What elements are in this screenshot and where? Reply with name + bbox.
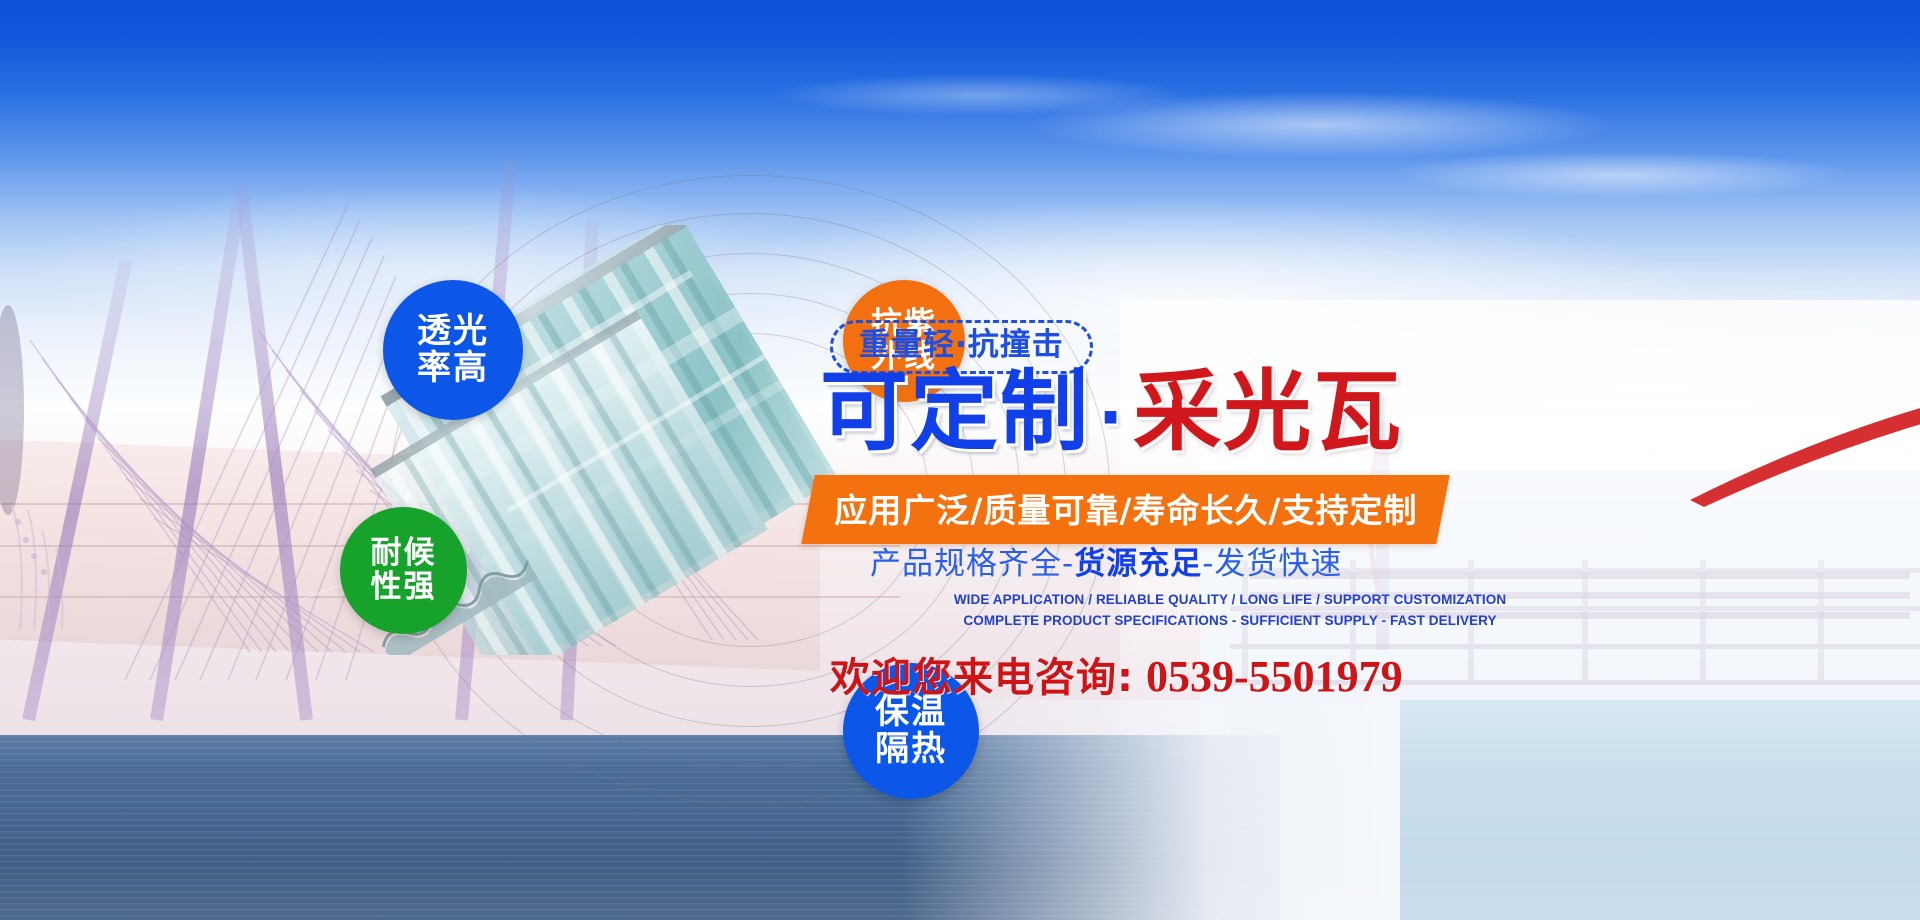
headline-dot: ·	[1090, 379, 1133, 456]
bottom-veil	[0, 860, 1920, 920]
spec-suffix: -发货快速	[1202, 546, 1342, 582]
feature-bar: 应用广泛/质量可靠/寿命长久/支持定制	[801, 475, 1450, 544]
spec-line: 产品规格齐全-货源充足-发货快速	[870, 538, 1342, 583]
badge-line: 率高	[417, 350, 489, 387]
page-title: 可定制·采光瓦	[820, 368, 1403, 456]
badge-line: 耐候	[371, 537, 437, 570]
spec-prefix: 产品规格齐全-	[870, 546, 1074, 582]
phone-number: 0539-5501979	[1134, 652, 1403, 701]
foliage-decor	[0, 300, 90, 630]
badge-line: 透光	[417, 313, 489, 350]
contact-phone[interactable]: 欢迎您来电咨询:0539-5501979	[830, 645, 1403, 703]
light-transmittance-badge[interactable]: 透光 率高	[383, 280, 523, 420]
english-subtext: WIDE APPLICATION / RELIABLE QUALITY / LO…	[910, 590, 1550, 632]
headline-blue: 可定制	[820, 360, 1090, 463]
spec-strong: 货源充足	[1074, 546, 1202, 582]
feature-bar-label: 应用广泛/质量可靠/寿命长久/支持定制	[834, 484, 1417, 532]
badge-line: 性强	[371, 571, 437, 604]
english-line-1: WIDE APPLICATION / RELIABLE QUALITY / LO…	[910, 590, 1550, 611]
promotional-banner: 透光 率高 耐候 性强 抗紫 外线 保温 隔热 重量轻·抗撞击 可定制·采光瓦 …	[0, 0, 1920, 920]
phone-label: 欢迎您来电咨询:	[830, 655, 1134, 701]
weather-resistance-badge[interactable]: 耐候 性强	[340, 507, 467, 634]
headline-red: 采光瓦	[1133, 360, 1403, 463]
badge-line: 隔热	[875, 731, 947, 768]
english-line-2: COMPLETE PRODUCT SPECIFICATIONS - SUFFIC…	[910, 611, 1550, 632]
